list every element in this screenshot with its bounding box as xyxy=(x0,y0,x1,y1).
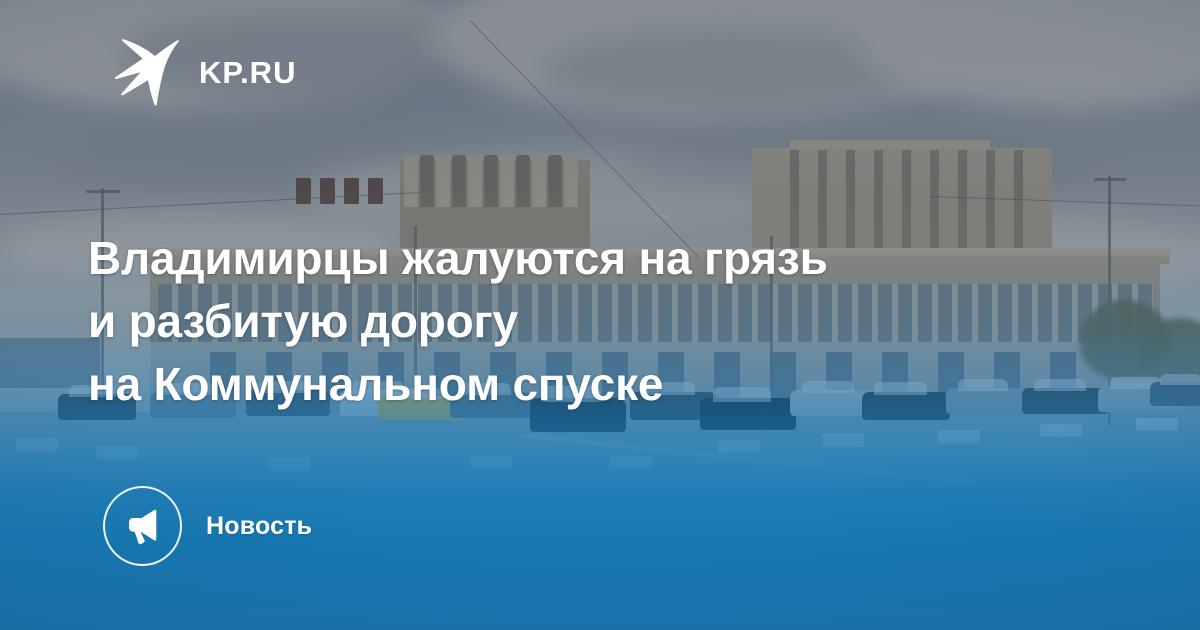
logo-wordmark: KP.RU xyxy=(199,57,296,88)
site-logo[interactable]: KP.RU xyxy=(113,38,296,106)
swallow-bird-icon xyxy=(113,38,179,106)
content-type-badge[interactable]: Новость xyxy=(103,486,312,566)
megaphone-icon xyxy=(123,506,163,546)
headline: Владимирцы жалуются на грязь и разбитую … xyxy=(88,227,1088,416)
badge-label: Новость xyxy=(206,512,312,541)
badge-icon-ring xyxy=(103,486,182,566)
news-share-card: KP.RU Владимирцы жалуются на грязь и раз… xyxy=(0,0,1200,630)
headline-line-1: Владимирцы жалуются на грязь xyxy=(88,227,1088,290)
headline-line-2: и разбитую дорогу xyxy=(88,290,1088,353)
headline-line-3: на Коммунальном спуске xyxy=(88,353,1088,416)
